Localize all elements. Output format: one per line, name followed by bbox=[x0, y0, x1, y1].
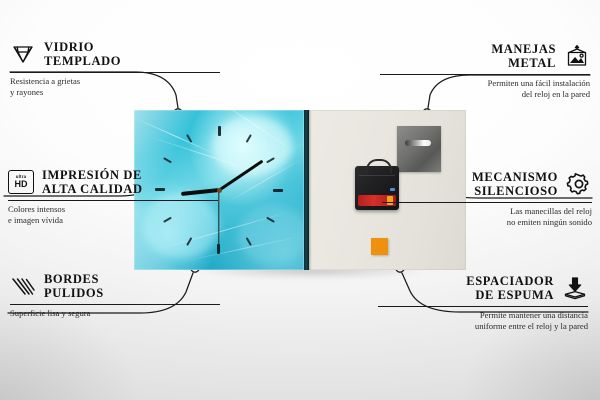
feature-mecanismo-silencioso: MECANISMO SILENCIOSO Las manecillas del … bbox=[382, 170, 592, 227]
feature-desc-line1: Superficie lisa y segura bbox=[10, 308, 220, 319]
feature-title-line1: ESPACIADOR bbox=[466, 274, 554, 288]
ultra-hd-icon-large-text: HD bbox=[15, 180, 28, 189]
infographic-canvas: VIDRIO TEMPLADO Resistencia a grietas y … bbox=[0, 0, 600, 400]
feature-divider bbox=[380, 74, 590, 75]
ultra-hd-icon: ultra HD bbox=[8, 170, 34, 194]
feature-manejas-metal: MANEJAS METAL Permiten una fácil instala… bbox=[380, 42, 590, 99]
feature-desc-line2: uniforme entre el reloj y la pared bbox=[378, 321, 588, 332]
diamond-icon bbox=[10, 42, 36, 66]
foam-spacer bbox=[371, 238, 388, 255]
feature-vidrio-templado: VIDRIO TEMPLADO Resistencia a grietas y … bbox=[10, 40, 220, 97]
feature-desc-line1: Las manecillas del reloj bbox=[382, 206, 592, 217]
feature-divider bbox=[10, 72, 220, 73]
feature-desc-line2: no emiten ningún sonido bbox=[382, 217, 592, 228]
feature-espaciador-espuma: ESPACIADOR DE ESPUMA Permite mantener un… bbox=[378, 274, 588, 331]
feature-divider bbox=[8, 200, 218, 201]
feature-desc-line2: y rayones bbox=[10, 87, 220, 98]
hanging-frame-icon bbox=[564, 44, 590, 68]
foam-spacer-icon bbox=[562, 276, 588, 300]
feature-desc-line1: Colores intensos bbox=[8, 204, 218, 215]
metal-hanger-plate bbox=[397, 126, 441, 172]
feature-divider bbox=[382, 202, 592, 203]
feature-title-line2: SILENCIOSO bbox=[472, 184, 558, 198]
feature-desc-line2: del reloj en la pared bbox=[380, 89, 590, 100]
feature-title-line2: TEMPLADO bbox=[44, 54, 121, 68]
feature-desc-line1: Permiten una fácil instalación bbox=[380, 78, 590, 89]
polished-edges-icon bbox=[10, 274, 36, 298]
feature-title-line1: IMPRESIÓN DE bbox=[42, 168, 143, 182]
feature-title-line1: MANEJAS bbox=[491, 42, 556, 56]
feature-title-line1: BORDES bbox=[44, 272, 104, 286]
gear-icon bbox=[566, 172, 592, 196]
hanger-slot bbox=[405, 140, 431, 146]
feature-divider bbox=[378, 306, 588, 307]
feature-desc-line1: Resistencia a grietas bbox=[10, 76, 220, 87]
feature-title-line1: MECANISMO bbox=[472, 170, 558, 184]
feature-title-line2: METAL bbox=[491, 56, 556, 70]
feature-title-line2: ALTA CALIDAD bbox=[42, 182, 143, 196]
feature-bordes-pulidos: BORDES PULIDOS Superficie lisa y segura bbox=[10, 272, 220, 319]
feature-divider bbox=[10, 304, 220, 305]
feature-title-line2: PULIDOS bbox=[44, 286, 104, 300]
feature-title-line1: VIDRIO bbox=[44, 40, 121, 54]
feature-title-line2: DE ESPUMA bbox=[466, 288, 554, 302]
feature-desc-line1: Permite mantener una distancia bbox=[378, 310, 588, 321]
feature-impresion-alta-calidad: ultra HD IMPRESIÓN DE ALTA CALIDAD Color… bbox=[8, 168, 218, 225]
feature-desc-line2: e imagen vívida bbox=[8, 215, 218, 226]
